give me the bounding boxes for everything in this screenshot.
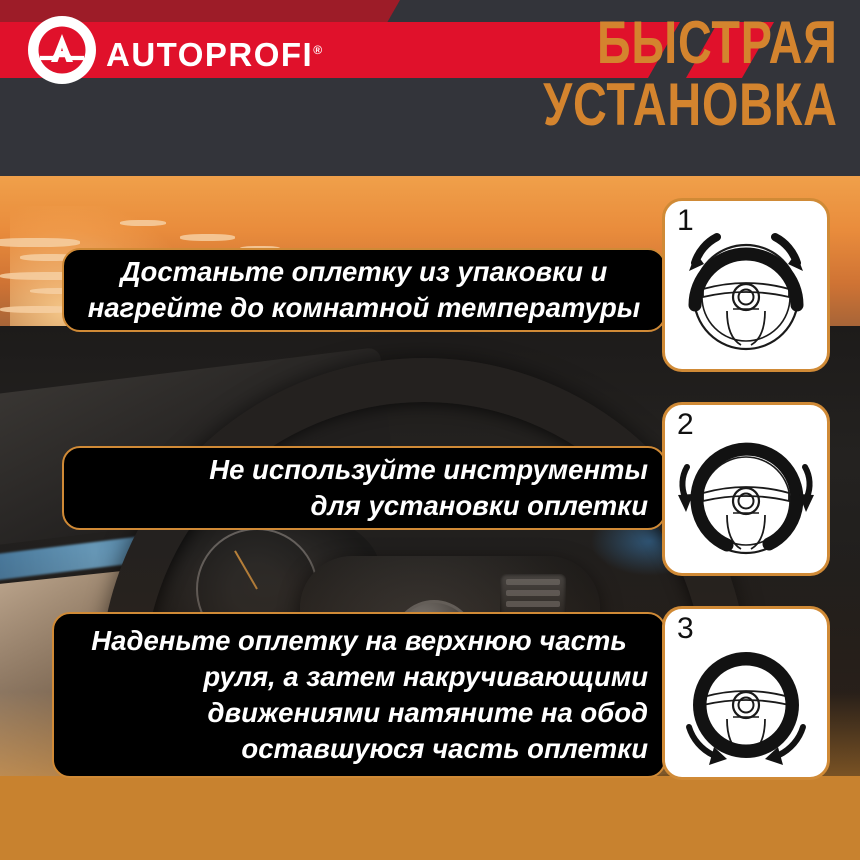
step-2-text-box: Не используйте инструменты для установки… <box>62 446 666 530</box>
brand-wordmark: AUTOPROFI® <box>106 28 322 77</box>
step-1-text-line-1: Достаньте оплетку из упаковки и <box>80 254 648 290</box>
step-3-text-line-4: оставшуюся часть оплетки <box>70 731 648 767</box>
step-3-text-box: Наденьте оплетку на верхнюю часть руля, … <box>52 612 666 778</box>
step-1-text-box: Достаньте оплетку из упаковки и нагрейте… <box>62 248 666 332</box>
bottom-orange-bar <box>0 776 860 860</box>
steering-wheel-step-3-icon <box>665 609 827 777</box>
infographic-page: AUTOPROFI® БЫСТРАЯ УСТАНОВКА <box>0 0 860 860</box>
step-1-text-line-2: нагрейте до комнатной температуры <box>80 290 648 326</box>
page-title-line-1: БЫСТРАЯ <box>543 12 838 74</box>
autoprofi-a-emblem-icon <box>28 16 96 84</box>
steering-wheel-step-2-icon <box>665 405 827 573</box>
step-3-text-line-2: руля, а затем накручивающими <box>70 659 648 695</box>
step-1-illustration-card: 1 <box>662 198 830 372</box>
step-2-text-line-2: для установки оплетки <box>80 488 648 524</box>
step-3-text-line-1: Наденьте оплетку на верхнюю часть <box>70 623 648 659</box>
page-title: БЫСТРАЯ УСТАНОВКА <box>543 12 838 136</box>
registered-mark: ® <box>313 43 322 57</box>
header-bar: AUTOPROFI® БЫСТРАЯ УСТАНОВКА <box>0 0 860 176</box>
step-2-illustration-card: 2 <box>662 402 830 576</box>
page-title-line-2: УСТАНОВКА <box>543 74 838 136</box>
brand-name-text: AUTOPROFI <box>106 36 313 73</box>
step-2-text-line-1: Не используйте инструменты <box>80 452 648 488</box>
steering-wheel-step-1-icon <box>665 201 827 369</box>
step-3-text-line-3: движениями натяните на обод <box>70 695 648 731</box>
step-3-illustration-card: 3 <box>662 606 830 780</box>
